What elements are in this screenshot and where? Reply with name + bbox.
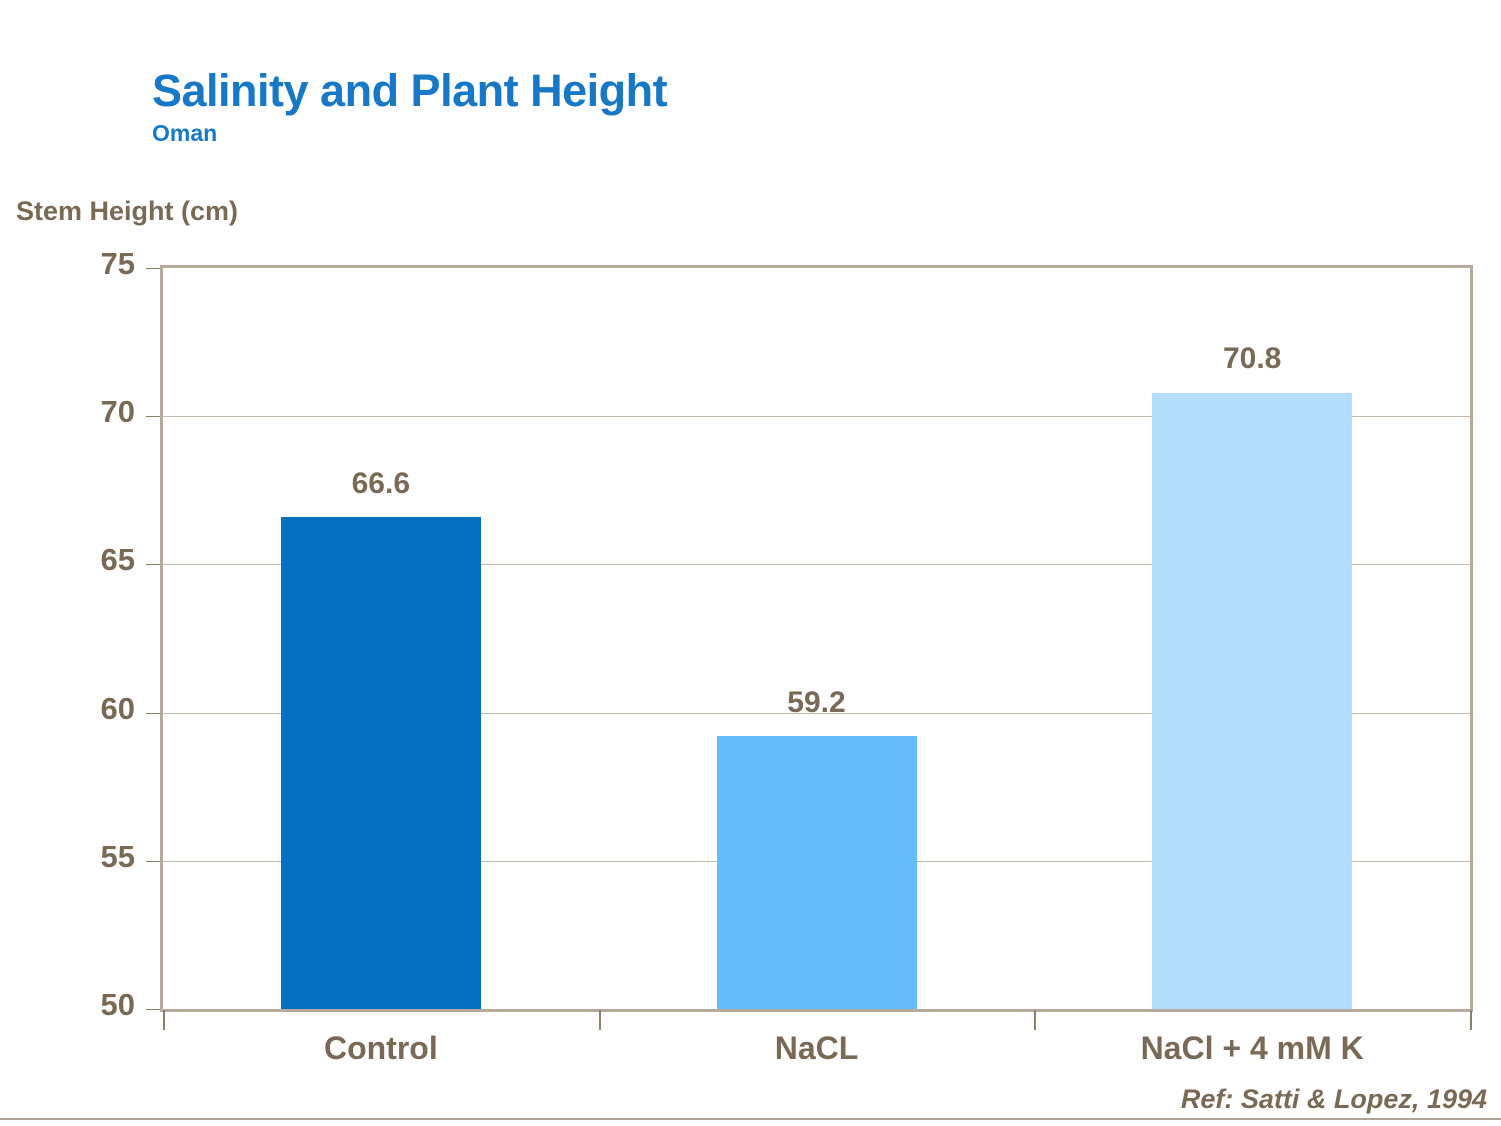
y-tick-mark (146, 861, 160, 862)
x-tick-mark (1470, 1010, 1472, 1030)
bar-nacl[interactable] (717, 736, 917, 1009)
y-tick-label: 70 (0, 394, 135, 430)
title-block: Salinity and Plant Height Oman (152, 66, 667, 148)
x-tick-mark (1034, 1010, 1036, 1030)
y-tick-label: 60 (0, 691, 135, 727)
x-category-label: NaCL (567, 1030, 1067, 1067)
bar-nacl-4-mm-k[interactable] (1152, 393, 1352, 1010)
bar-control[interactable] (281, 517, 481, 1009)
x-category-label: Control (131, 1030, 631, 1067)
slide-canvas: Salinity and Plant Height Oman Stem Heig… (0, 0, 1501, 1126)
bar-value-label: 70.8 (1112, 342, 1392, 376)
bar-value-label: 59.2 (677, 686, 957, 720)
y-tick-mark (146, 564, 160, 565)
y-axis-title: Stem Height (cm) (16, 196, 238, 227)
y-tick-mark (146, 1009, 160, 1010)
y-tick-label: 50 (0, 987, 135, 1023)
y-tick-label: 55 (0, 839, 135, 875)
y-tick-mark (146, 416, 160, 417)
y-tick-mark (146, 713, 160, 714)
bar-value-label: 66.6 (241, 467, 521, 501)
y-tick-label: 75 (0, 246, 135, 282)
reference-note: Ref: Satti & Lopez, 1994 (1181, 1084, 1487, 1115)
page-subtitle: Oman (152, 118, 667, 148)
x-tick-mark (599, 1010, 601, 1030)
y-tick-mark (146, 268, 160, 269)
footer-divider (0, 1118, 1501, 1120)
page-title: Salinity and Plant Height (152, 66, 667, 116)
x-tick-mark (163, 1010, 165, 1030)
plot-area (160, 265, 1473, 1012)
y-tick-label: 65 (0, 542, 135, 578)
x-category-label: NaCl + 4 mM K (1002, 1030, 1501, 1067)
